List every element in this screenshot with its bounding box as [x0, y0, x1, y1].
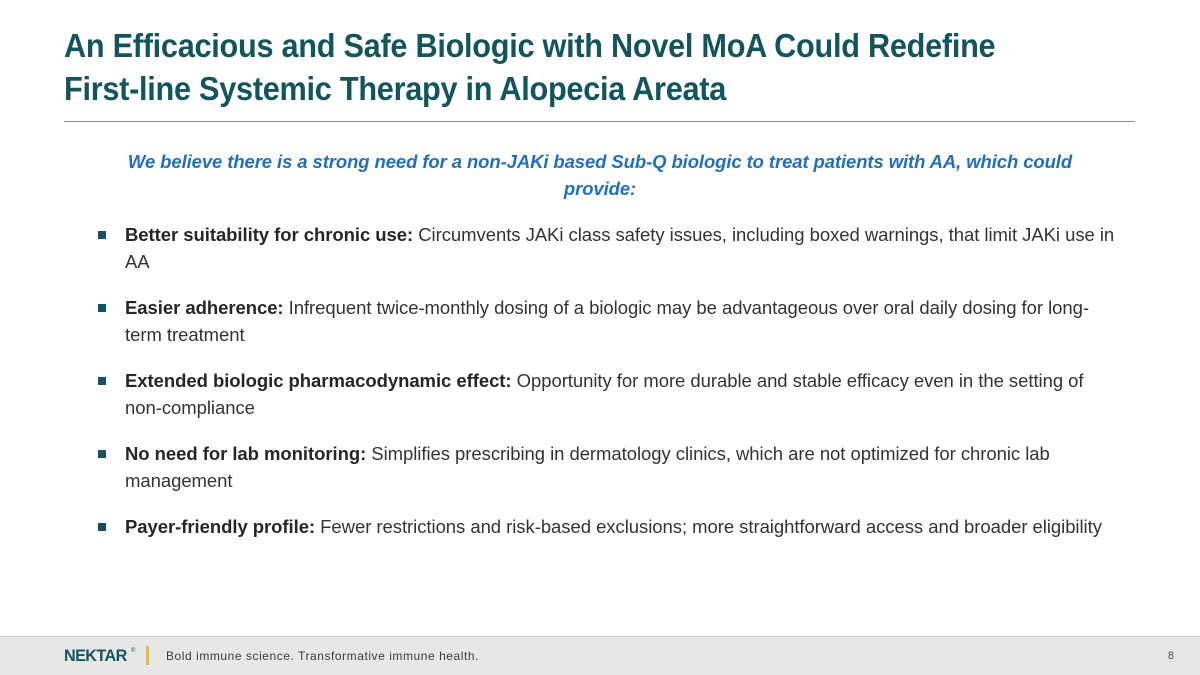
list-item-lead: Easier adherence:	[125, 297, 284, 318]
list-item-lead: Payer-friendly profile:	[125, 516, 315, 537]
square-bullet-icon	[98, 450, 106, 458]
list-item-lead: No need for lab monitoring:	[125, 443, 366, 464]
slide: An Efficacious and Safe Biologic with No…	[0, 0, 1200, 675]
list-item: Easier adherence: Infrequent twice-month…	[98, 295, 1118, 348]
square-bullet-icon	[98, 377, 106, 385]
list-item-body: Fewer restrictions and risk-based exclus…	[315, 516, 1102, 537]
list-item-text: Extended biologic pharmacodynamic effect…	[125, 368, 1118, 421]
registered-trademark-icon: ®	[131, 648, 135, 654]
list-item: Better suitability for chronic use: Circ…	[98, 222, 1118, 275]
square-bullet-icon	[98, 523, 106, 531]
square-bullet-icon	[98, 304, 106, 312]
logo-wordmark: NEKTAR	[64, 647, 127, 664]
square-bullet-icon	[98, 231, 106, 239]
list-item-text: Better suitability for chronic use: Circ…	[125, 222, 1118, 275]
list-item-text: Easier adherence: Infrequent twice-month…	[125, 295, 1118, 348]
list-item-text: Payer-friendly profile: Fewer restrictio…	[125, 514, 1118, 541]
title-divider	[64, 121, 1135, 122]
footer-inner: NEKTAR ® Bold immune science. Transforma…	[0, 637, 1200, 675]
list-item: Payer-friendly profile: Fewer restrictio…	[98, 514, 1118, 541]
bullet-list: Better suitability for chronic use: Circ…	[98, 222, 1118, 561]
slide-subtitle: We believe there is a strong need for a …	[100, 148, 1100, 202]
title-block: An Efficacious and Safe Biologic with No…	[64, 24, 1124, 110]
footer-tagline: Bold immune science. Transformative immu…	[166, 648, 479, 664]
list-item-lead: Extended biologic pharmacodynamic effect…	[125, 370, 512, 391]
footer-divider	[146, 646, 149, 665]
list-item: No need for lab monitoring: Simplifies p…	[98, 441, 1118, 494]
list-item-text: No need for lab monitoring: Simplifies p…	[125, 441, 1118, 494]
page-title: An Efficacious and Safe Biologic with No…	[64, 24, 1050, 110]
nektar-logo: NEKTAR ®	[64, 647, 135, 664]
list-item-lead: Better suitability for chronic use:	[125, 224, 413, 245]
slide-footer: NEKTAR ® Bold immune science. Transforma…	[0, 636, 1200, 675]
list-item: Extended biologic pharmacodynamic effect…	[98, 368, 1118, 421]
page-number: 8	[1168, 649, 1174, 663]
